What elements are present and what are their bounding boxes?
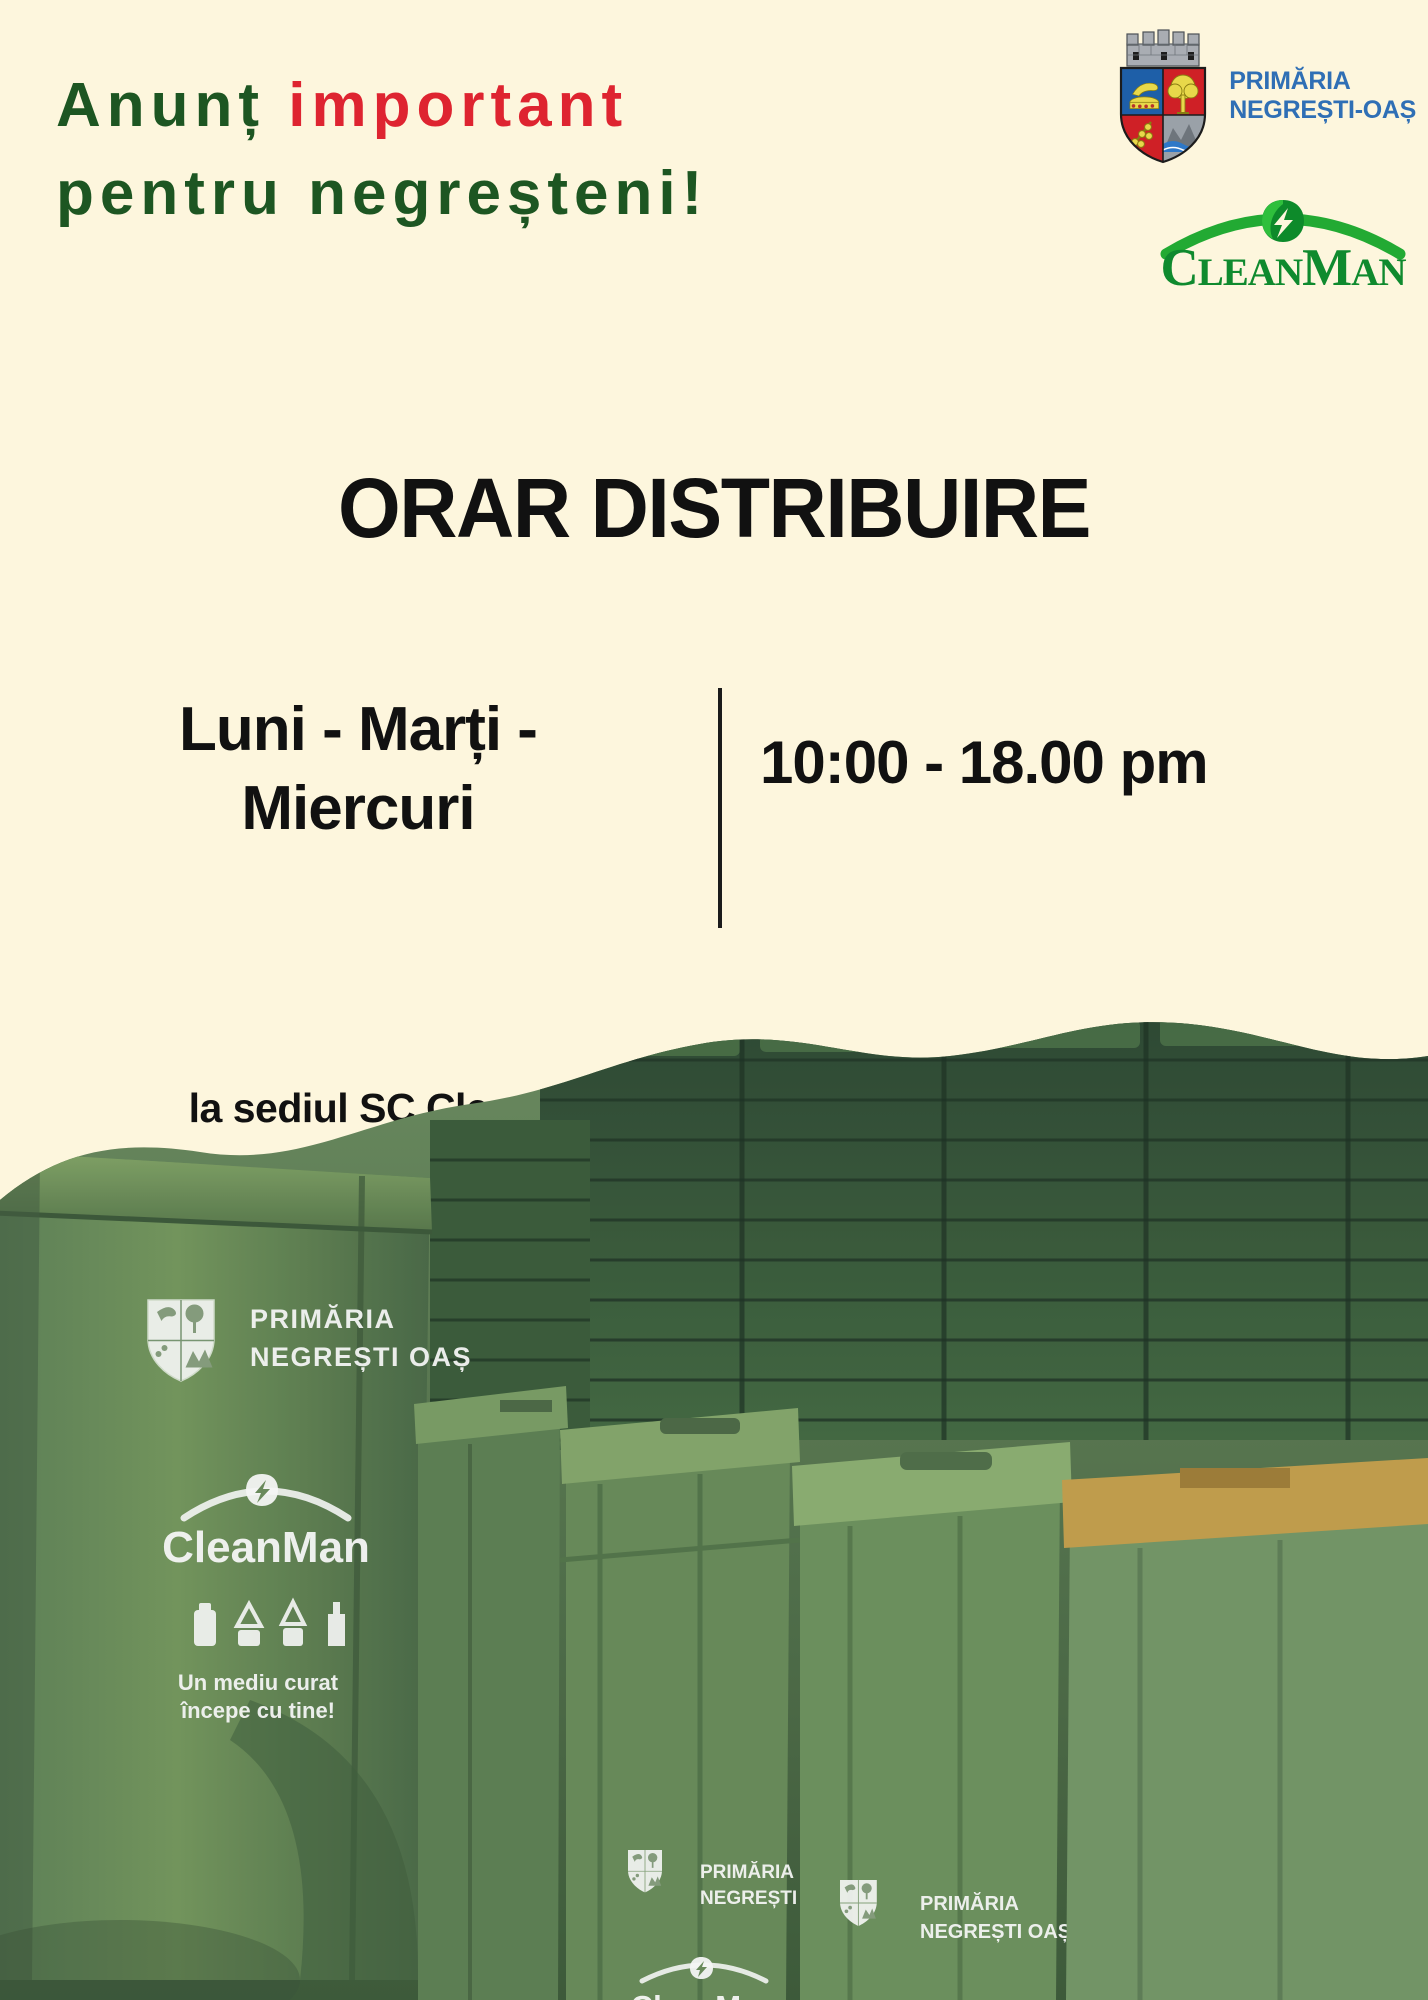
schedule-section: Luni - Marți - Miercuri 10:00 - 18.00 pm [0, 640, 1428, 940]
cleanman-an: AN [1351, 251, 1405, 294]
city-hall-line1: PRIMĂRIA [1229, 67, 1416, 97]
schedule-hours: 10:00 - 18.00 pm [760, 728, 1320, 797]
coat-of-arms-icon [1111, 28, 1215, 164]
schedule-days: Luni - Marți - Miercuri [88, 690, 628, 849]
city-hall-line2: NEGREȘTI-OAȘ [1229, 96, 1416, 126]
schedule-divider [718, 688, 722, 928]
cleanman-wordmark: CLEANMAN [1158, 242, 1408, 295]
cleanman-logo: CLEANMAN [1158, 196, 1408, 314]
cleanman-m: M [1302, 239, 1351, 297]
city-hall-text: PRIMĂRIA NEGREȘTI-OAȘ [1229, 67, 1416, 126]
city-hall-branding: PRIMĂRIA NEGREȘTI-OAȘ [1111, 28, 1416, 164]
cleanman-c: C [1160, 239, 1197, 297]
headline-part-anunt: Anunț [56, 71, 288, 140]
cleanman-lean: LEAN [1198, 251, 1302, 294]
headline-line2: pentru negreșteni! [56, 150, 856, 238]
poster-root: Anunț important pentru negreșteni! [0, 0, 1428, 2000]
bins-photo: PRIMĂRIA NEGREȘTI OAȘ CleanMan [0, 1000, 1428, 2000]
page-title: ORAR DISTRIBUIRE [29, 460, 1400, 557]
headline: Anunț important pentru negreșteni! [56, 62, 856, 238]
headline-part-important: important [288, 71, 628, 140]
